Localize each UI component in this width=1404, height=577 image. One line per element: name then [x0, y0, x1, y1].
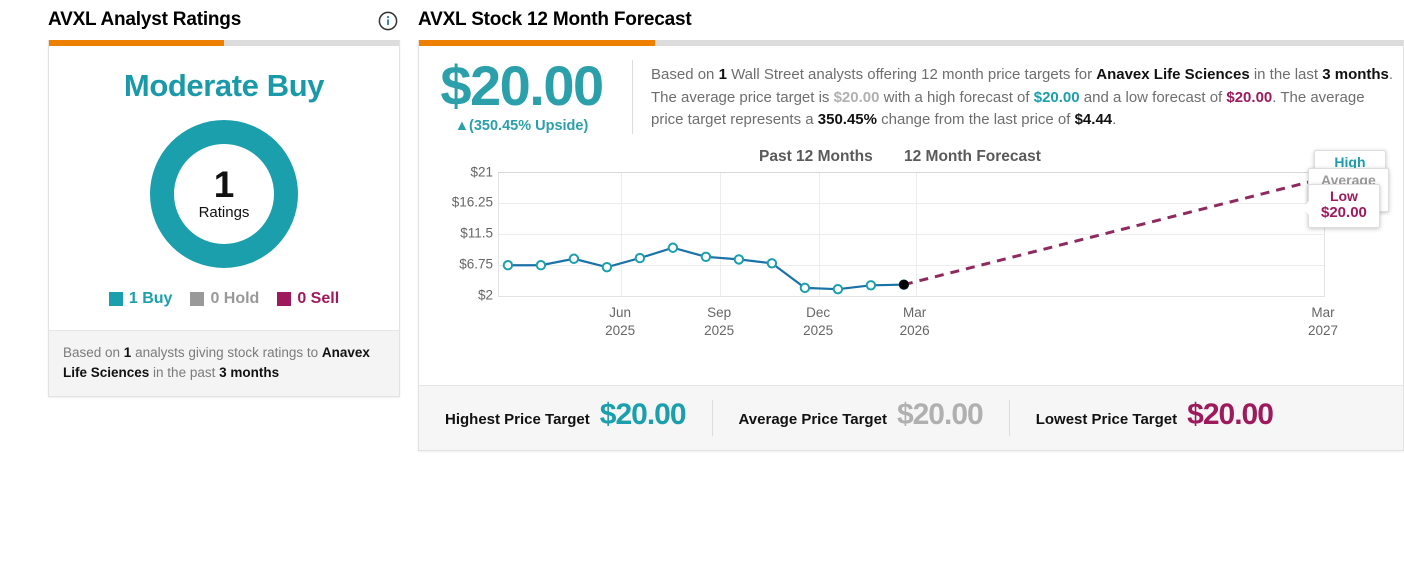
forecast-page: AVXL Analyst Ratings Moderate Buy: [0, 0, 1404, 577]
chart-data-point[interactable]: [735, 255, 743, 263]
highest-price-target-value: $20.00: [600, 400, 686, 430]
price-target-summary-bar: Highest Price Target $20.00 Average Pric…: [419, 385, 1403, 450]
chart-data-point[interactable]: [669, 243, 677, 251]
blurb-period: 3 months: [1322, 66, 1389, 83]
ratings-donut-chart: 1 Ratings: [148, 118, 300, 270]
blurb-t9: .: [1112, 111, 1116, 128]
chart-data-point[interactable]: [636, 253, 644, 261]
ratings-legend: 1 Buy 0 Hold 0 Sell: [49, 290, 399, 308]
blurb-t8: change from the last price of: [877, 111, 1075, 128]
chart-current-price-marker[interactable]: [899, 279, 909, 289]
analyst-ratings-card: Moderate Buy 1 Ratings 1 Buy: [48, 40, 400, 397]
blurb-low-value: $20.00: [1226, 89, 1272, 106]
x-tick-month: Jun: [605, 304, 635, 322]
chart-x-tick-label: Dec2025: [803, 304, 833, 340]
chart-x-axis: Jun2025Sep2025Dec2025Mar2026Mar2027: [498, 304, 1323, 348]
chart-data-point[interactable]: [504, 261, 512, 269]
x-tick-year: 2027: [1308, 322, 1338, 340]
chart-data-point[interactable]: [867, 281, 875, 289]
blurb-company: Anavex Life Sciences: [1096, 66, 1249, 83]
chart-y-tick-label: $16.25: [452, 195, 493, 210]
lowest-price-target-value: $20.00: [1187, 400, 1273, 430]
footnote-part-2: analysts giving stock ratings to: [131, 345, 322, 360]
accent-bar-track: [49, 40, 399, 46]
legend-label-hold: 0 Hold: [210, 290, 259, 308]
x-tick-month: Mar: [900, 304, 930, 322]
blurb-t2: Wall Street analysts offering 12 month p…: [727, 66, 1096, 83]
analyst-ratings-footnote: Based on 1 analysts giving stock ratings…: [49, 330, 399, 396]
x-tick-year: 2025: [803, 322, 833, 340]
highest-price-target: Highest Price Target $20.00: [419, 400, 712, 436]
forecast-summary: $20.00 ▲(350.45% Upside) Based on 1 Wall…: [419, 46, 1403, 144]
tooltip-low-value: $20.00: [1321, 204, 1367, 222]
lowest-price-target-label: Lowest Price Target: [1036, 411, 1177, 428]
blurb-t5: with a high forecast of: [879, 89, 1033, 106]
blurb-t1: Based on: [651, 66, 719, 83]
chart-x-tick-label: Sep2025: [704, 304, 734, 340]
legend-swatch-buy: [109, 292, 123, 306]
page-title: AVXL Analyst Ratings: [48, 9, 241, 31]
x-tick-month: Mar: [1308, 304, 1338, 322]
x-tick-year: 2025: [605, 322, 635, 340]
blurb-last-price: $4.44: [1075, 111, 1113, 128]
consensus-rating: Moderate Buy: [49, 68, 399, 104]
info-icon[interactable]: [378, 11, 398, 31]
blurb-analyst-count: 1: [719, 66, 727, 83]
stock-forecast-card: $20.00 ▲(350.45% Upside) Based on 1 Wall…: [418, 40, 1404, 451]
stock-forecast-panel: AVXL Stock 12 Month Forecast $20.00 ▲(35…: [418, 0, 1404, 451]
blurb-t6: and a low forecast of: [1080, 89, 1227, 106]
average-price-target-summary-value: $20.00: [897, 400, 983, 430]
x-tick-month: Sep: [704, 304, 734, 322]
highest-price-target-label: Highest Price Target: [445, 411, 590, 428]
ratings-donut-wrap: 1 Ratings: [49, 118, 399, 270]
x-tick-month: Dec: [803, 304, 833, 322]
forecast-chart: Past 12 Months 12 Month Forecast $2$6.75…: [419, 146, 1403, 381]
average-price-target-value: $20.00: [419, 60, 624, 112]
chart-series-line: [904, 178, 1323, 284]
chart-y-tick-label: $6.75: [459, 256, 493, 271]
chart-x-tick-label: Mar2027: [1308, 304, 1338, 340]
chart-y-tick-label: $11.5: [460, 226, 493, 241]
chart-label-past-12-months: Past 12 Months: [759, 148, 873, 166]
chart-y-axis: $2$6.75$11.5$16.25$21: [419, 172, 493, 295]
analyst-ratings-panel: AVXL Analyst Ratings Moderate Buy: [48, 0, 400, 397]
legend-label-sell: 0 Sell: [297, 290, 339, 308]
accent-bar-fill: [49, 40, 224, 46]
chart-data-point[interactable]: [702, 252, 710, 260]
price-target-box: $20.00 ▲(350.45% Upside): [419, 60, 633, 134]
blurb-high-value: $20.00: [1034, 89, 1080, 106]
chart-data-point[interactable]: [570, 254, 578, 262]
chart-x-tick-label: Jun2025: [605, 304, 635, 340]
x-tick-year: 2025: [704, 322, 734, 340]
legend-item-buy[interactable]: 1 Buy: [109, 290, 173, 308]
footnote-period: 3 months: [219, 365, 279, 380]
stock-forecast-header: AVXL Stock 12 Month Forecast: [418, 0, 1404, 40]
chart-data-point[interactable]: [834, 284, 842, 292]
legend-label-buy: 1 Buy: [129, 290, 173, 308]
ratings-count: 1: [214, 167, 235, 202]
tooltip-low-label: Low: [1321, 188, 1367, 205]
footnote-part-1: Based on: [63, 345, 124, 360]
average-price-target: Average Price Target $20.00: [712, 400, 1009, 436]
average-price-target-label: Average Price Target: [739, 411, 887, 428]
upside-percentage: ▲(350.45% Upside): [419, 118, 624, 134]
ratings-count-label: Ratings: [199, 204, 250, 221]
forecast-description: Based on 1 Wall Street analysts offering…: [633, 60, 1403, 134]
analyst-ratings-header: AVXL Analyst Ratings: [48, 0, 400, 40]
x-tick-year: 2026: [900, 322, 930, 340]
chart-series-svg: [498, 172, 1323, 295]
chart-y-tick-label: $2: [478, 287, 493, 302]
chart-data-point[interactable]: [603, 262, 611, 270]
chart-section-labels: Past 12 Months 12 Month Forecast: [419, 146, 1403, 172]
legend-item-sell[interactable]: 0 Sell: [277, 290, 339, 308]
chart-data-point[interactable]: [768, 259, 776, 267]
blurb-t3: in the last: [1250, 66, 1323, 83]
chart-label-12-month-forecast: 12 Month Forecast: [904, 148, 1041, 166]
chart-x-tick-label: Mar2026: [900, 304, 930, 340]
legend-swatch-sell: [277, 292, 291, 306]
chart-y-tick-label: $21: [470, 164, 493, 179]
footnote-part-3: in the past: [149, 365, 219, 380]
chart-data-point[interactable]: [801, 283, 809, 291]
blurb-average-value: $20.00: [834, 89, 880, 106]
tooltip-low: Low $20.00: [1308, 184, 1380, 228]
forecast-title: AVXL Stock 12 Month Forecast: [418, 9, 691, 31]
lowest-price-target: Lowest Price Target $20.00: [1009, 400, 1299, 436]
legend-swatch-hold: [190, 292, 204, 306]
blurb-change-pct: 350.45%: [818, 111, 877, 128]
chart-data-point[interactable]: [537, 261, 545, 269]
legend-item-hold[interactable]: 0 Hold: [190, 290, 259, 308]
